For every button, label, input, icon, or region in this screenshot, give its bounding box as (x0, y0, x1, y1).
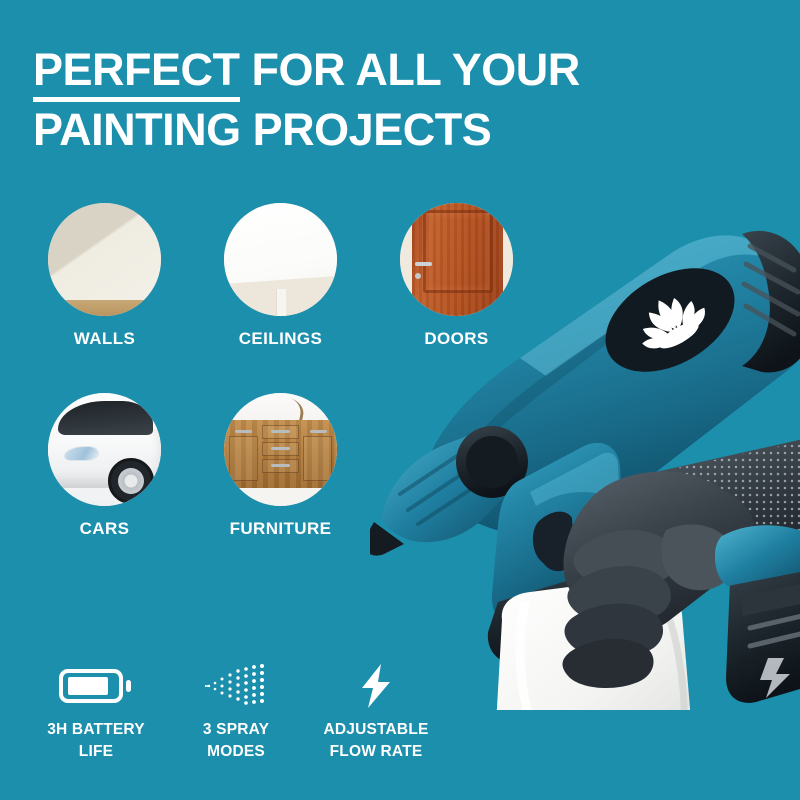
category-furniture[interactable]: FURNITURE (224, 393, 337, 539)
sideboard-pull-3 (271, 447, 289, 450)
category-label-furniture: FURNITURE (224, 519, 337, 539)
feature-battery: 3H BATTERY LIFE (26, 662, 166, 764)
feature-label-battery: 3H BATTERY LIFE (37, 719, 155, 764)
sideboard-pull-5 (310, 430, 327, 433)
battery-icon (59, 662, 133, 710)
feature-list: 3H BATTERY LIFE (26, 662, 446, 764)
feature-label-spray-modes: 3 SPRAY MODES (177, 719, 295, 764)
headline-emphasis: PERFECT (33, 44, 240, 102)
doors-thumbnail (400, 203, 513, 316)
category-walls[interactable]: WALLS (48, 203, 161, 349)
sideboard-pull-1 (235, 430, 252, 433)
sideboard-door-left (229, 436, 258, 481)
car-windshield (58, 401, 153, 435)
walls-thumbnail (48, 203, 161, 316)
ceilings-thumbnail (224, 203, 337, 316)
category-doors[interactable]: DOORS (400, 203, 513, 349)
category-label-walls: WALLS (48, 329, 161, 349)
product-banner: PERFECT FOR ALL YOUR PAINTING PROJECTS W… (0, 0, 800, 800)
wooden-sideboard-photo (224, 393, 337, 506)
feature-label-flow-rate: ADJUSTABLE FLOW RATE (317, 719, 435, 764)
feature-flow-rate: ADJUSTABLE FLOW RATE (306, 662, 446, 764)
ceiling-photo (224, 203, 337, 316)
door-handle-icon (415, 262, 432, 266)
category-label-doors: DOORS (400, 329, 513, 349)
feature-spray-modes: 3 SPRAY MODES (166, 662, 306, 764)
sideboard-pull-4 (271, 464, 289, 467)
battery-pack (726, 564, 800, 703)
category-label-cars: CARS (48, 519, 161, 539)
headline-rest: FOR ALL YOUR (240, 44, 580, 95)
page-title: PERFECT FOR ALL YOUR PAINTING PROJECTS (33, 40, 633, 160)
lightning-icon (357, 662, 395, 710)
cars-thumbnail (48, 393, 161, 506)
wooden-door-photo (400, 203, 513, 316)
headline-line-2: PAINTING PROJECTS (33, 104, 491, 155)
door-panel (423, 210, 493, 294)
sideboard-door-right (303, 436, 332, 481)
white-car-photo (48, 393, 161, 506)
category-cars[interactable]: CARS (48, 393, 161, 539)
car-headlight (64, 446, 99, 461)
sideboard-pull-2 (271, 430, 289, 433)
spray-icon (205, 662, 267, 710)
category-ceilings[interactable]: CEILINGS (224, 203, 337, 349)
category-label-ceilings: CEILINGS (224, 329, 337, 349)
wall-photo (48, 203, 161, 316)
car-wheel (108, 458, 154, 504)
furniture-thumbnail (224, 393, 337, 506)
